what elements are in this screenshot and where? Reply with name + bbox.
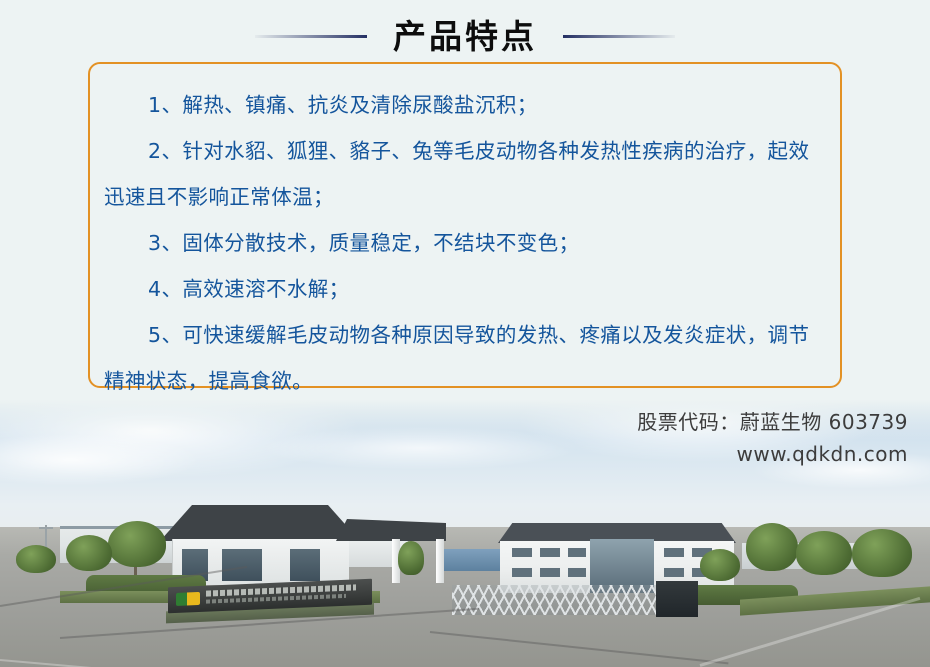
photo-tree — [852, 529, 912, 577]
photo-gate-panel — [656, 581, 698, 617]
photo-office-window — [664, 548, 684, 557]
photo-tree — [746, 523, 798, 571]
feature-item-2: 2、针对水貂、狐狸、貉子、兔等毛皮动物各种发热性疾病的治疗，起效迅速且不影响正常… — [104, 128, 826, 220]
feature-item-4: 4、高效速溶不水解； — [104, 266, 826, 312]
photo-office-window — [512, 568, 532, 577]
photo-utility-pole-arm — [39, 527, 53, 529]
photo-retractable-gate — [452, 585, 658, 615]
photo-office-window — [540, 548, 560, 557]
website-link[interactable]: www.qdkdn.com — [637, 438, 908, 470]
stock-code-text: 股票代码：蔚蓝生物 603739 — [637, 406, 908, 438]
photo-gatehouse-door — [290, 549, 320, 581]
feature-box: 1、解热、镇痛、抗炎及清除尿酸盐沉积； 2、针对水貂、狐狸、貉子、兔等毛皮动物各… — [88, 62, 842, 388]
photo-canopy-column-2 — [436, 539, 444, 583]
feature-item-1: 1、解热、镇痛、抗炎及清除尿酸盐沉积； — [104, 82, 826, 128]
photo-gatehouse-roof — [160, 505, 360, 541]
feature-item-5: 5、可快速缓解毛皮动物各种原因导致的发热、疼痛以及发炎症状，调节精神状态，提高食… — [104, 312, 826, 404]
photo-office-window — [512, 548, 532, 557]
photo-gatehouse-window-2 — [222, 549, 262, 581]
photo-tree — [796, 531, 852, 575]
photo-office-window — [568, 548, 586, 557]
photo-tree — [108, 521, 166, 567]
feature-item-3: 3、固体分散技术，质量稳定，不结块不变色； — [104, 220, 826, 266]
photo-tree — [66, 535, 112, 571]
page-title: 产品特点 — [393, 20, 537, 53]
photo-office-window — [540, 568, 560, 577]
photo-tree — [700, 549, 740, 581]
page-title-row: 产品特点 — [0, 8, 930, 64]
title-rule-left-icon — [255, 35, 367, 38]
title-rule-right-icon — [563, 35, 675, 38]
photo-tree — [398, 541, 424, 575]
photo-office-window — [664, 568, 684, 577]
photo-office-window — [568, 568, 586, 577]
photo-distant-blue-building — [438, 549, 508, 571]
feature-list: 1、解热、镇痛、抗炎及清除尿酸盐沉积； 2、针对水貂、狐狸、貉子、兔等毛皮动物各… — [104, 82, 826, 404]
photo-tree — [16, 545, 56, 573]
photo-company-logo-icon — [176, 592, 200, 606]
footer-info: 股票代码：蔚蓝生物 603739 www.qdkdn.com — [637, 406, 908, 470]
